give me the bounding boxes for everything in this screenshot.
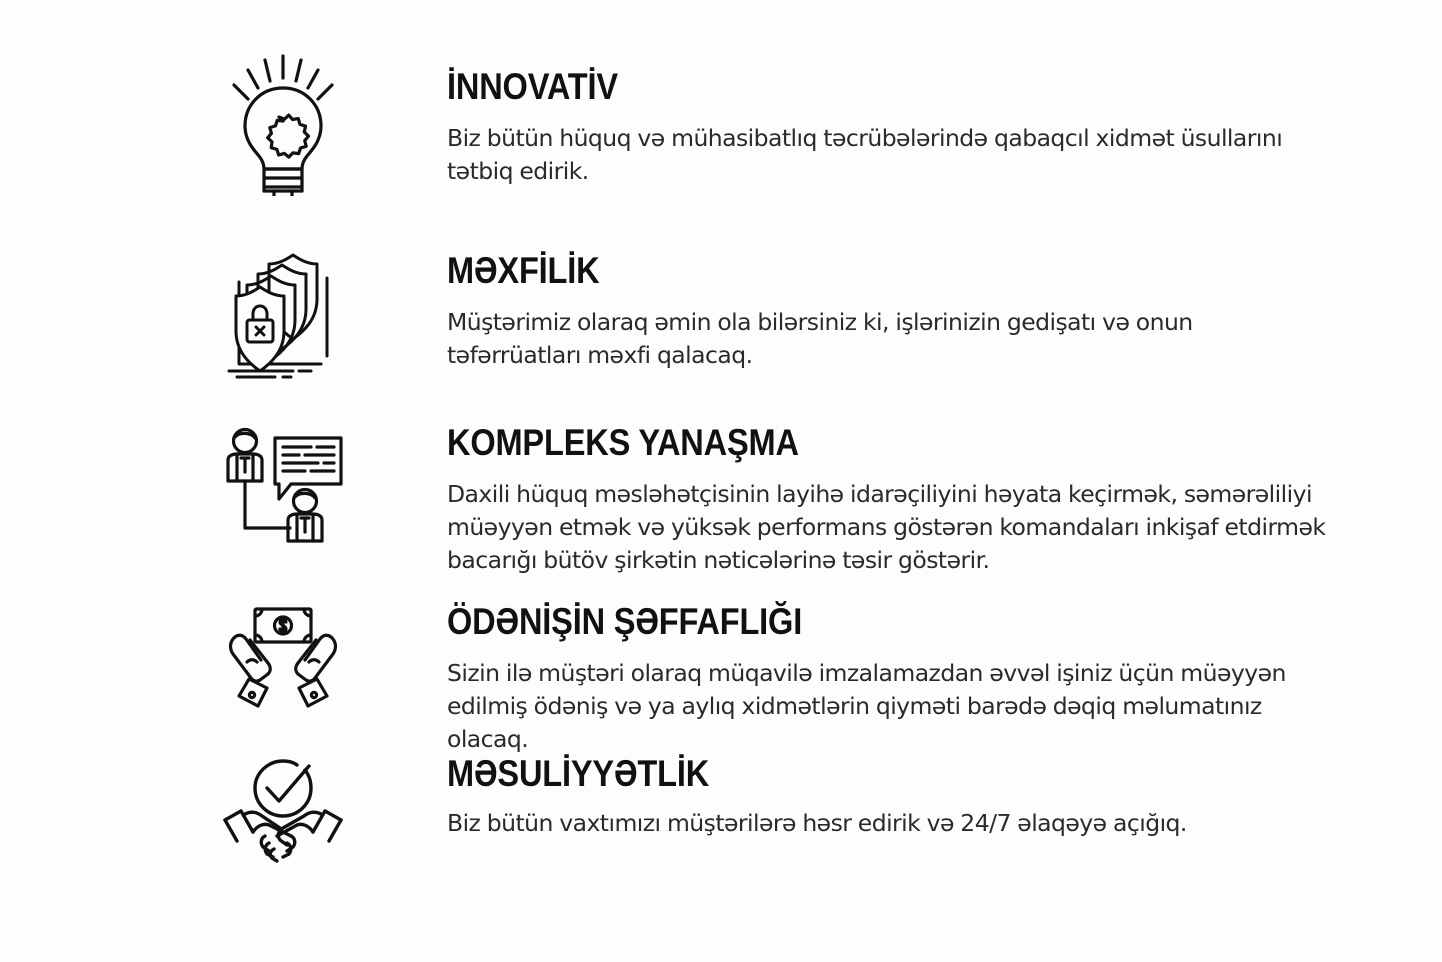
feature-title: İNNOVATİV bbox=[447, 68, 1239, 106]
hands-money-icon bbox=[208, 600, 358, 710]
feature-body: Biz bütün vaxtımızı müştərilərə həsr edi… bbox=[447, 807, 1257, 840]
lightbulb-gear-icon bbox=[208, 52, 358, 196]
team-communication-icon bbox=[208, 424, 358, 552]
feature-text-kompleks-yanasma: KOMPLEKS YANAŞMA Daxili hüquq məsləhətçi… bbox=[447, 424, 1397, 578]
handshake-check-icon bbox=[208, 748, 358, 864]
feature-title: MƏSULİYYƏTLİK bbox=[447, 755, 1169, 793]
feature-text-innovativ: İNNOVATİV Biz bütün hüquq və mühasibatlı… bbox=[447, 68, 1347, 188]
shield-lock-icon bbox=[208, 252, 358, 382]
feature-body: Müştərimiz olaraq əmin ola bilərsiniz ki… bbox=[447, 306, 1257, 373]
feature-body: Daxili hüquq məsləhətçisinin layihə idar… bbox=[447, 478, 1387, 578]
feature-text-odenisin-seffafligi: ÖDƏNİŞİN ŞƏFFAFLIĞI Sizin ilə müştəri ol… bbox=[447, 603, 1347, 757]
feature-body: Biz bütün hüquq və mühasibatlıq təcrübəl… bbox=[447, 122, 1337, 189]
feature-text-mesuliyyetlik: MƏSULİYYƏTLİK Biz bütün vaxtımızı müştər… bbox=[447, 755, 1267, 840]
feature-title: ÖDƏNİŞİN ŞƏFFAFLIĞI bbox=[447, 603, 1239, 641]
feature-title: MƏXFİLİK bbox=[447, 252, 1177, 290]
feature-body: Sizin ilə müştəri olaraq müqavilə imzala… bbox=[447, 657, 1337, 757]
feature-title: KOMPLEKS YANAŞMA bbox=[447, 424, 1283, 462]
feature-list-page: İNNOVATİV Biz bütün hüquq və mühasibatlı… bbox=[0, 0, 1442, 962]
feature-text-mexfilik: MƏXFİLİK Müştərimiz olaraq əmin ola bilə… bbox=[447, 252, 1277, 372]
